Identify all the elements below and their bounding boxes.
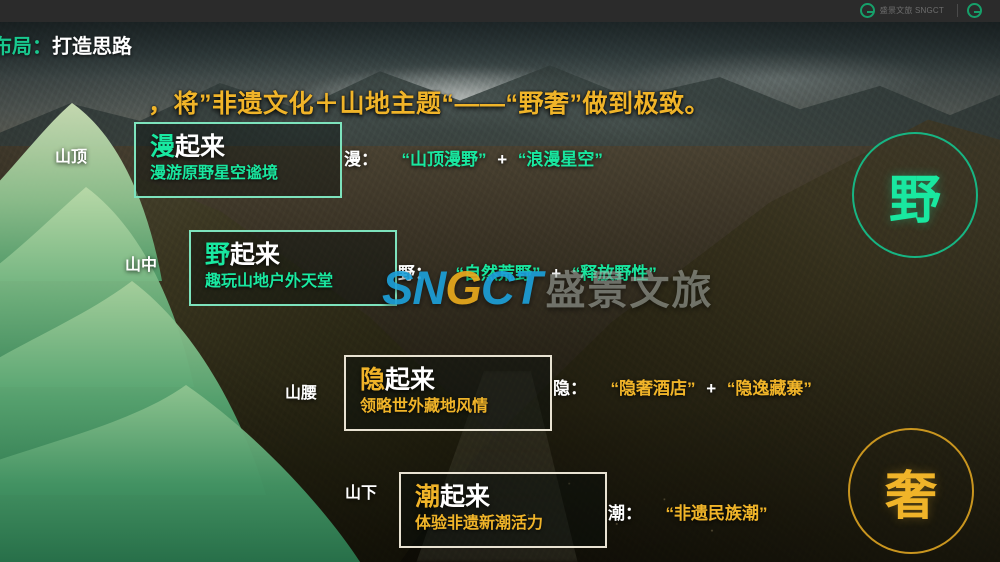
logo-g-icon-secondary xyxy=(967,3,982,18)
badge-she: 奢 xyxy=(848,428,974,554)
card-man-key: 漫 xyxy=(150,133,175,161)
card-chao-suffix: 起来 xyxy=(440,483,490,511)
formula-man-key: 漫： xyxy=(344,150,378,169)
formula-chao-term1: “非遗民族潮” xyxy=(665,504,767,523)
level-label-mid: 山中 xyxy=(125,251,157,275)
card-ye-key: 野 xyxy=(205,241,230,269)
formula-yin-key: 隐： xyxy=(553,379,587,398)
card-chao[interactable]: 潮起来 体验非遗新潮活力 xyxy=(399,472,607,548)
card-chao-title: 潮起来 xyxy=(415,483,591,511)
formula-chao: 潮： “非遗民族潮” xyxy=(608,499,767,524)
page-title-prefix: 布局： xyxy=(0,36,52,58)
watermark: SNGCT盛景文旅 xyxy=(382,258,714,316)
card-yin-title: 隐起来 xyxy=(360,366,536,394)
level-label-base: 山下 xyxy=(345,479,377,503)
watermark-g: G xyxy=(445,261,481,314)
logo-divider xyxy=(957,4,958,17)
card-man[interactable]: 漫起来 漫游原野星空谧境 xyxy=(134,122,342,198)
slide-canvas: 盛景文旅 SNGCT 布局：打造思路 ，将”非遗文化＋山地主题“——“野奢”做到… xyxy=(0,0,1000,562)
watermark-sn: SN xyxy=(382,261,445,314)
badge-ye: 野 xyxy=(852,132,978,258)
card-chao-key: 潮 xyxy=(415,483,440,511)
formula-yin-op: + xyxy=(700,379,722,398)
card-ye[interactable]: 野起来 趣玩山地户外天堂 xyxy=(189,230,397,306)
card-ye-suffix: 起来 xyxy=(230,241,280,269)
formula-yin: 隐： “隐奢酒店” + “隐逸藏寨” xyxy=(553,374,812,399)
formula-yin-term2: “隐逸藏寨” xyxy=(727,379,812,398)
card-man-title: 漫起来 xyxy=(150,133,326,161)
card-yin-suffix: 起来 xyxy=(385,366,435,394)
card-ye-subtitle: 趣玩山地户外天堂 xyxy=(205,270,381,293)
formula-man: 漫： “山顶漫野” + “浪漫星空” xyxy=(344,145,603,170)
logo-g-icon xyxy=(860,3,875,18)
badge-ye-glyph: 野 xyxy=(889,158,941,233)
formula-yin-term1: “隐奢酒店” xyxy=(610,379,695,398)
card-man-subtitle: 漫游原野星空谧境 xyxy=(150,162,326,185)
card-chao-subtitle: 体验非遗新潮活力 xyxy=(415,512,591,535)
formula-man-term2: “浪漫星空” xyxy=(518,150,603,169)
watermark-chinese: 盛景文旅 xyxy=(546,269,714,313)
formula-chao-key: 潮： xyxy=(608,504,642,523)
top-bar: 盛景文旅 SNGCT xyxy=(0,0,1000,22)
headline: ，将”非遗文化＋山地主题“——“野奢”做到极致。 xyxy=(148,84,710,120)
formula-man-op: + xyxy=(491,150,513,169)
card-man-suffix: 起来 xyxy=(175,133,225,161)
level-label-hillside: 山腰 xyxy=(285,379,317,403)
card-yin-key: 隐 xyxy=(360,366,385,394)
formula-man-term1: “山顶漫野” xyxy=(401,150,486,169)
watermark-ct: CT xyxy=(481,261,542,314)
brand-logo: 盛景文旅 SNGCT xyxy=(860,3,944,18)
level-label-peak: 山顶 xyxy=(55,143,87,167)
page-title-main: 打造思路 xyxy=(52,36,132,58)
page-title: 布局：打造思路 xyxy=(0,30,132,59)
card-yin[interactable]: 隐起来 领略世外藏地风情 xyxy=(344,355,552,431)
card-yin-subtitle: 领略世外藏地风情 xyxy=(360,395,536,418)
logo-text: 盛景文旅 SNGCT xyxy=(880,5,944,16)
card-ye-title: 野起来 xyxy=(205,241,381,269)
badge-she-glyph: 奢 xyxy=(885,454,937,529)
